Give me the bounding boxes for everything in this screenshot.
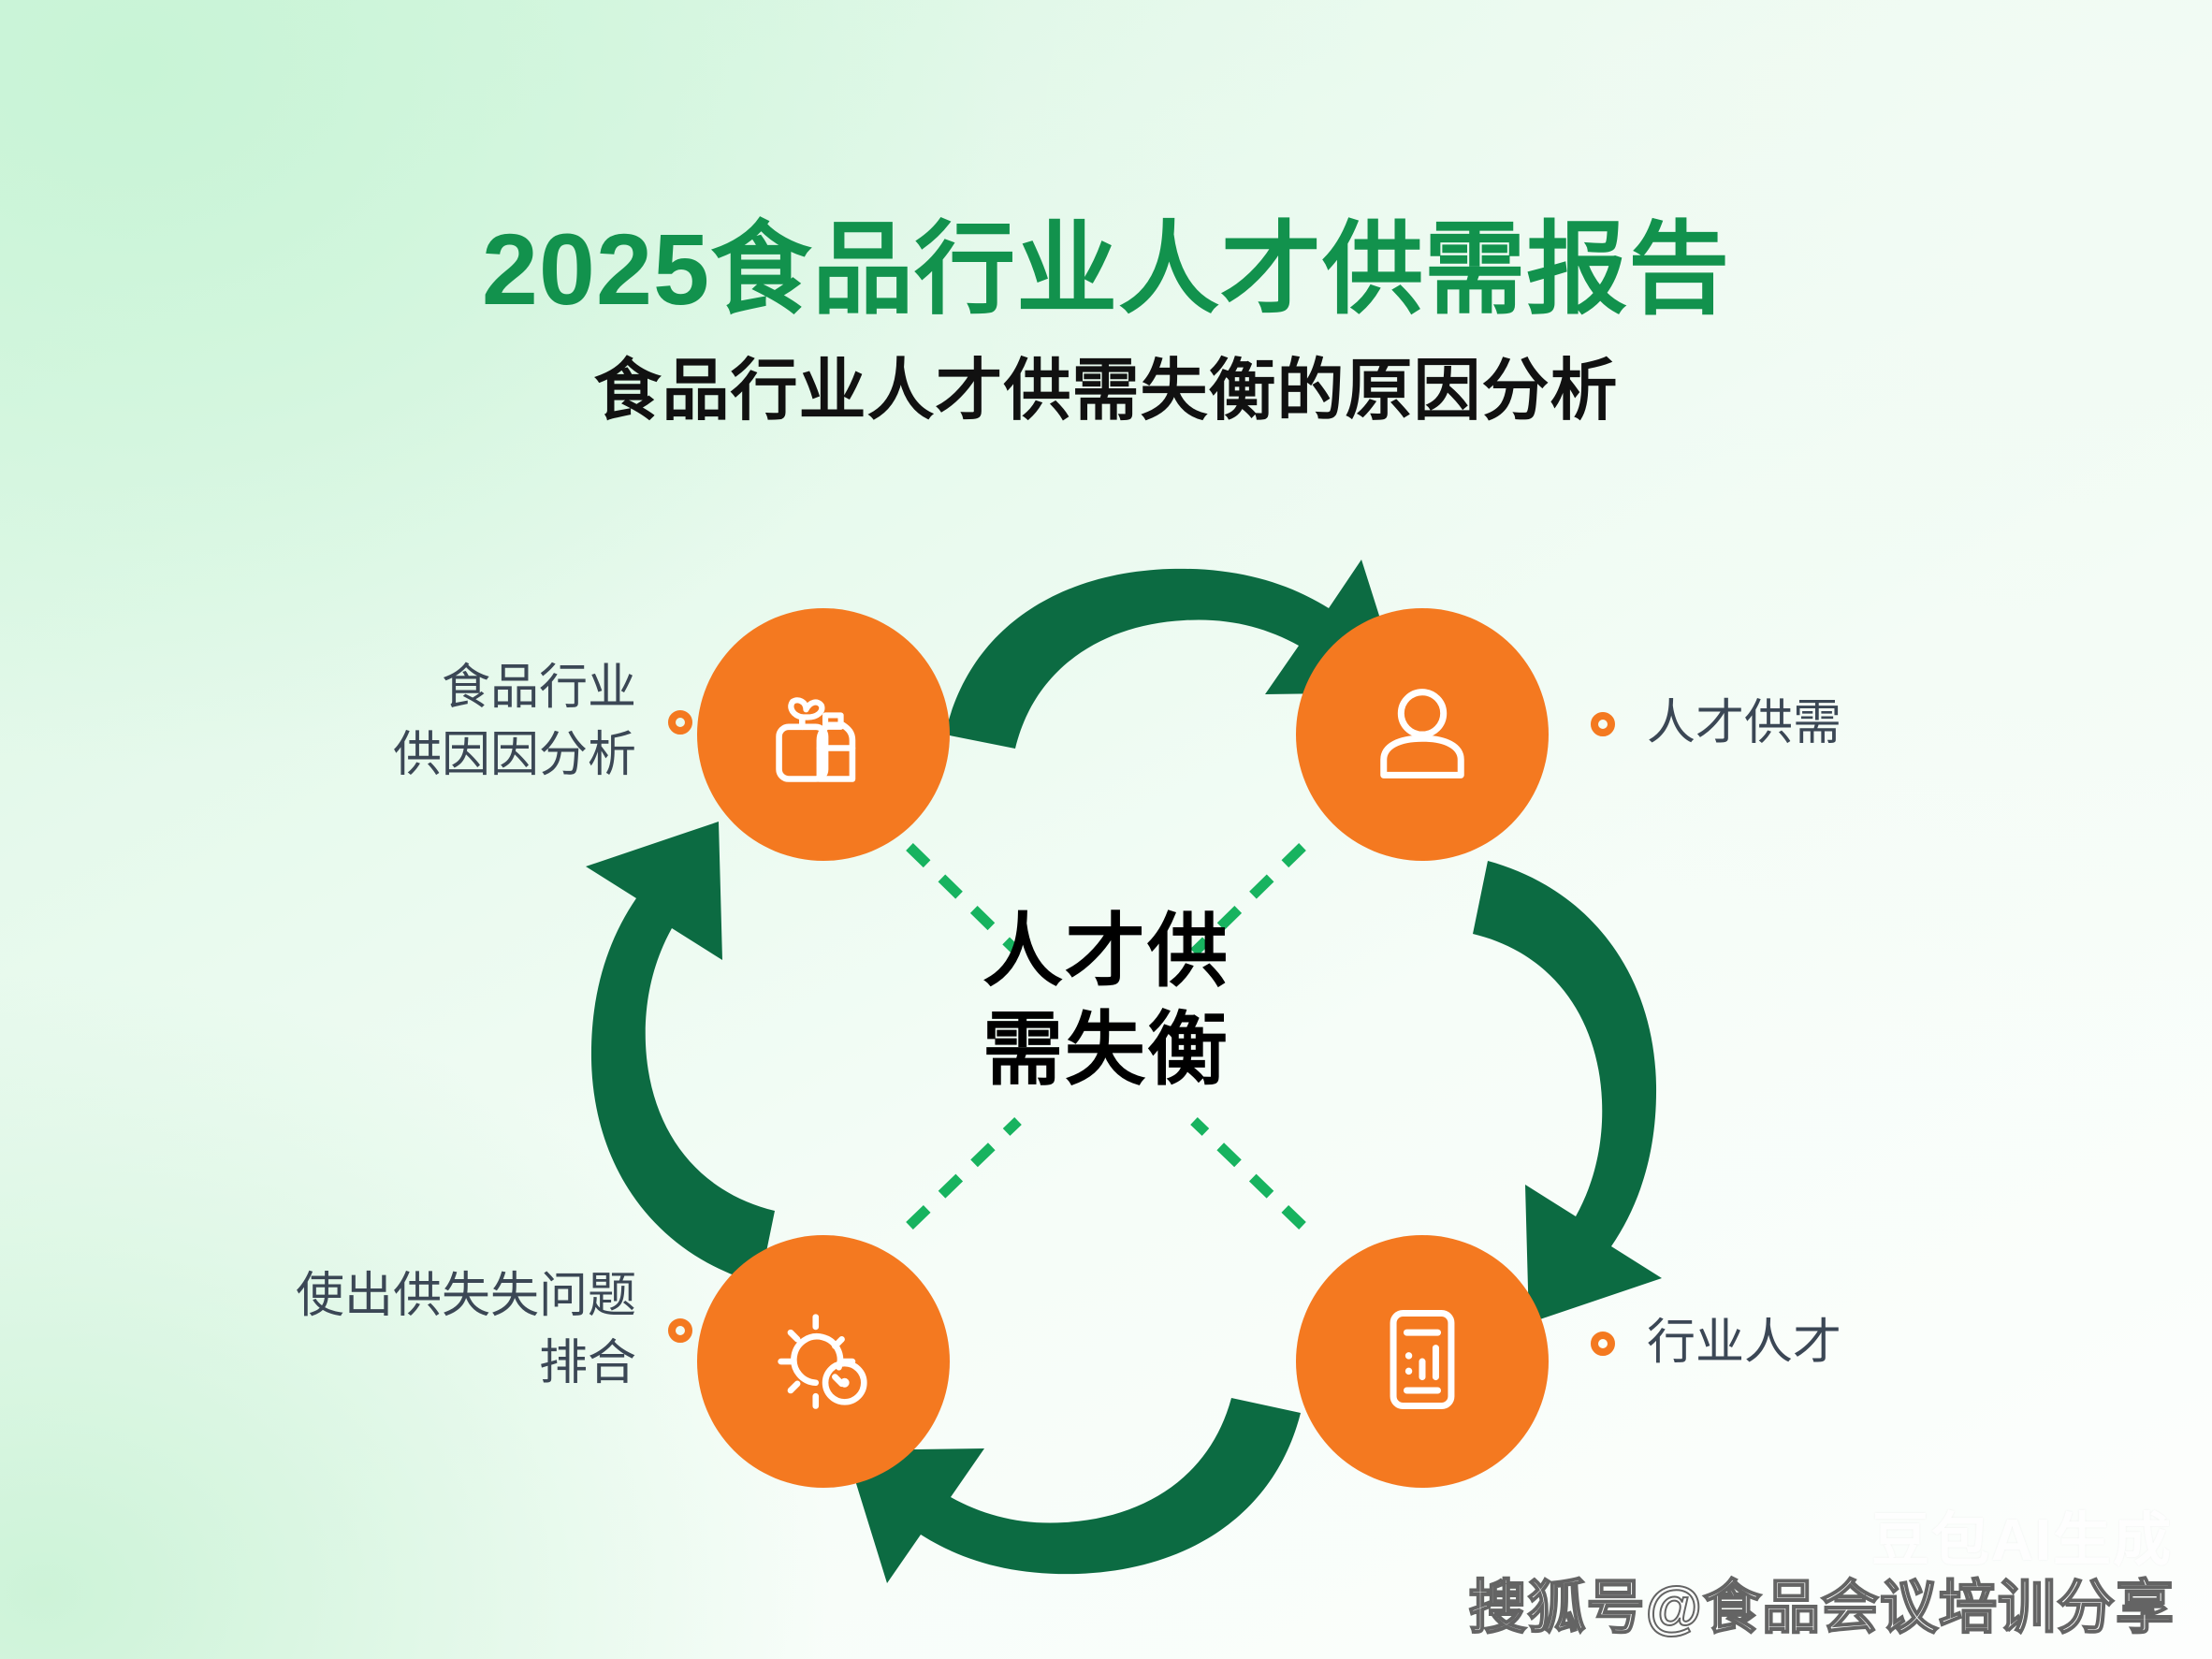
food-packages-icon	[762, 671, 885, 799]
arrow-right	[1473, 861, 1662, 1323]
bullet-dot-icon	[668, 710, 692, 735]
node-bottom-left[interactable]	[697, 1235, 950, 1488]
label-bottom-left-line2: 排合	[215, 1331, 636, 1398]
channel-watermark: 搜狐号@食品会议培训分享	[1469, 1560, 2175, 1644]
header: 2025食品行业人才供需报告 食品行业人才供需失衡的原因分析	[0, 213, 2212, 431]
label-bottom-left-text: 使出供失失问题 排合	[215, 1263, 636, 1398]
node-top-left[interactable]	[697, 608, 950, 861]
label-bottom-left-line1: 使出供失失问题	[296, 1269, 636, 1323]
dash-bottom-left	[910, 1121, 1018, 1226]
center-label: 人才供 需失衡	[872, 903, 1340, 1099]
label-top-right[interactable]: 人才供需	[1591, 691, 1841, 758]
arrow-left	[586, 822, 775, 1284]
center-label-line2: 需失衡	[872, 1001, 1340, 1099]
label-bottom-right[interactable]: 行业人才	[1591, 1310, 1841, 1377]
label-top-left-line2: 供因因分析	[393, 728, 636, 782]
label-top-left[interactable]: 食品行业 供因因分析	[318, 655, 692, 790]
dash-bottom-right	[1194, 1121, 1302, 1226]
infographic-slide: 2025食品行业人才供需报告 食品行业人才供需失衡的原因分析	[0, 0, 2212, 1659]
label-top-right-text: 人才供需	[1647, 691, 1841, 758]
center-label-line1: 人才供	[872, 903, 1340, 1001]
node-bottom-right[interactable]	[1296, 1235, 1549, 1488]
page-subtitle: 食品行业人才供需失衡的原因分析	[0, 351, 2212, 431]
report-chart-icon	[1361, 1298, 1484, 1426]
label-bottom-left[interactable]: 使出供失失问题 排合	[215, 1263, 692, 1398]
insight-sun-target-icon	[762, 1298, 885, 1426]
page-title: 2025食品行业人才供需报告	[0, 213, 2212, 327]
bullet-dot-icon	[1591, 712, 1615, 736]
bullet-dot-icon	[1591, 1332, 1615, 1356]
label-top-left-text: 食品行业 供因因分析	[318, 655, 636, 790]
label-top-left-line1: 食品行业	[442, 661, 636, 715]
bullet-dot-icon	[668, 1318, 692, 1343]
label-bottom-right-text: 行业人才	[1647, 1310, 1841, 1377]
person-icon	[1361, 671, 1484, 799]
node-top-right[interactable]	[1296, 608, 1549, 861]
